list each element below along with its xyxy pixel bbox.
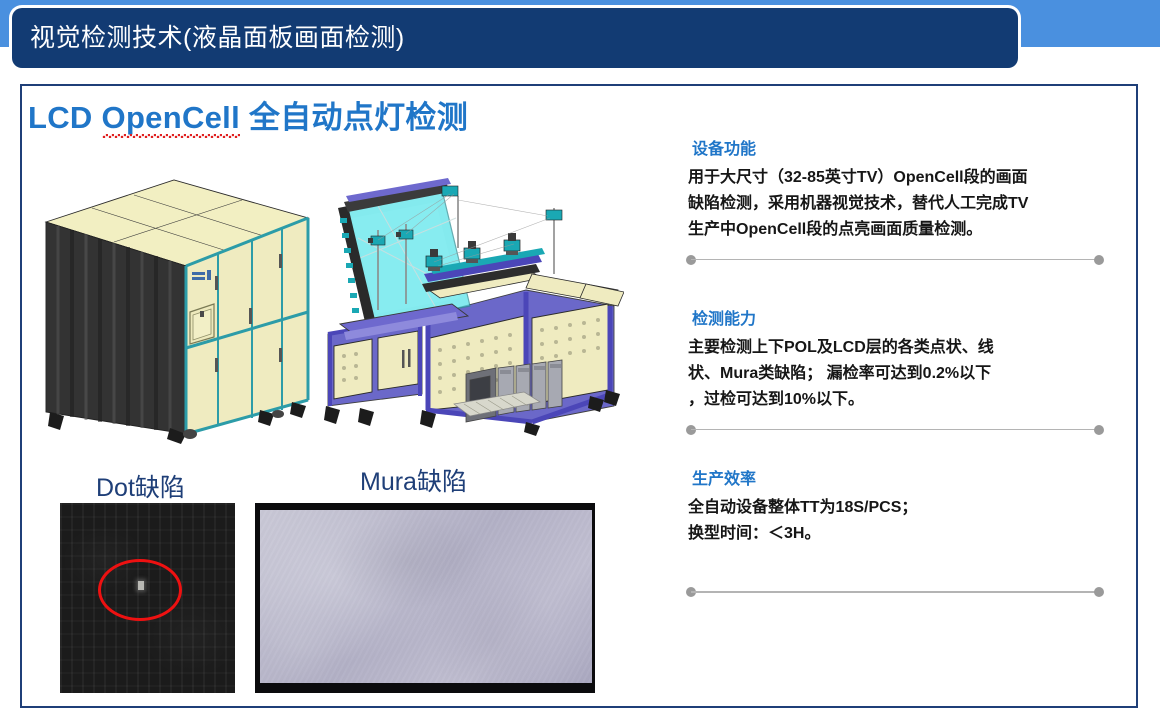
section-separator	[686, 255, 1104, 265]
info-block-capability-body: 主要检测上下POL及LCD层的各类点状、线 状、Mura类缺陷； 漏检率可达到0…	[688, 335, 1110, 413]
page-title-suffix: 全自动点灯检测	[240, 100, 468, 135]
inspection-mechanism-illustration	[318, 178, 624, 436]
mura-defect-photo	[255, 503, 595, 693]
dot-defect-photo	[60, 503, 235, 693]
info-line: ，过检可达到10%以下。	[688, 387, 1110, 413]
page-title-prefix: LCD	[28, 100, 102, 135]
info-block-capability-title: 检测能力	[692, 310, 1110, 329]
info-block-function: 设备功能 用于大尺寸（32-85英寸TV）OpenCell段的画面 缺陷检测，采…	[686, 140, 1110, 265]
separator-right-dot	[1094, 255, 1104, 265]
defect-annotation-ellipse	[98, 559, 182, 621]
info-block-efficiency-body: 全自动设备整体TT为18S/PCS； 换型时间：＜3H。	[688, 495, 1110, 547]
info-line: 缺陷检测，采用机器视觉技术，替代人工完成TV	[688, 191, 1110, 217]
panel-texture-sheen	[260, 510, 592, 683]
separator-right-dot	[1094, 587, 1104, 597]
equipment-enclosure-illustration	[24, 162, 324, 444]
info-line: 全自动设备整体TT为18S/PCS；	[688, 495, 1110, 521]
info-line: 换型时间：＜3H。	[688, 521, 1110, 547]
info-block-function-body: 用于大尺寸（32-85英寸TV）OpenCell段的画面 缺陷检测，采用机器视觉…	[688, 165, 1110, 243]
info-block-function-title: 设备功能	[692, 140, 1110, 159]
page-title-misspelled-term: OpenCell	[102, 100, 240, 136]
info-block-efficiency: 生产效率 全自动设备整体TT为18S/PCS； 换型时间：＜3H。	[686, 470, 1110, 597]
info-block-efficiency-title: 生产效率	[692, 470, 1110, 489]
section-separator	[686, 587, 1104, 597]
info-line: 状、Mura类缺陷； 漏检率可达到0.2%以下	[688, 361, 1110, 387]
panel-gray-screen	[260, 510, 592, 683]
slide-title: 视觉检测技术(液晶面板画面检测)	[30, 26, 405, 51]
info-line: 用于大尺寸（32-85英寸TV）OpenCell段的画面	[688, 165, 1110, 191]
slide-title-box: 视觉检测技术(液晶面板画面检测)	[12, 8, 1018, 68]
separator-line	[691, 591, 1099, 593]
info-line: 主要检测上下POL及LCD层的各类点状、线	[688, 335, 1110, 361]
info-block-capability: 检测能力 主要检测上下POL及LCD层的各类点状、线 状、Mura类缺陷； 漏检…	[686, 310, 1110, 435]
section-separator	[686, 425, 1104, 435]
dot-defect-caption: Dot缺陷	[96, 468, 185, 504]
mura-defect-caption: Mura缺陷	[360, 462, 467, 498]
info-line: 生产中OpenCell段的点亮画面质量检测。	[688, 217, 1110, 243]
separator-right-dot	[1094, 425, 1104, 435]
page-title: LCD OpenCell 全自动点灯检测	[28, 92, 468, 137]
separator-line	[691, 429, 1099, 431]
separator-line	[691, 259, 1099, 261]
